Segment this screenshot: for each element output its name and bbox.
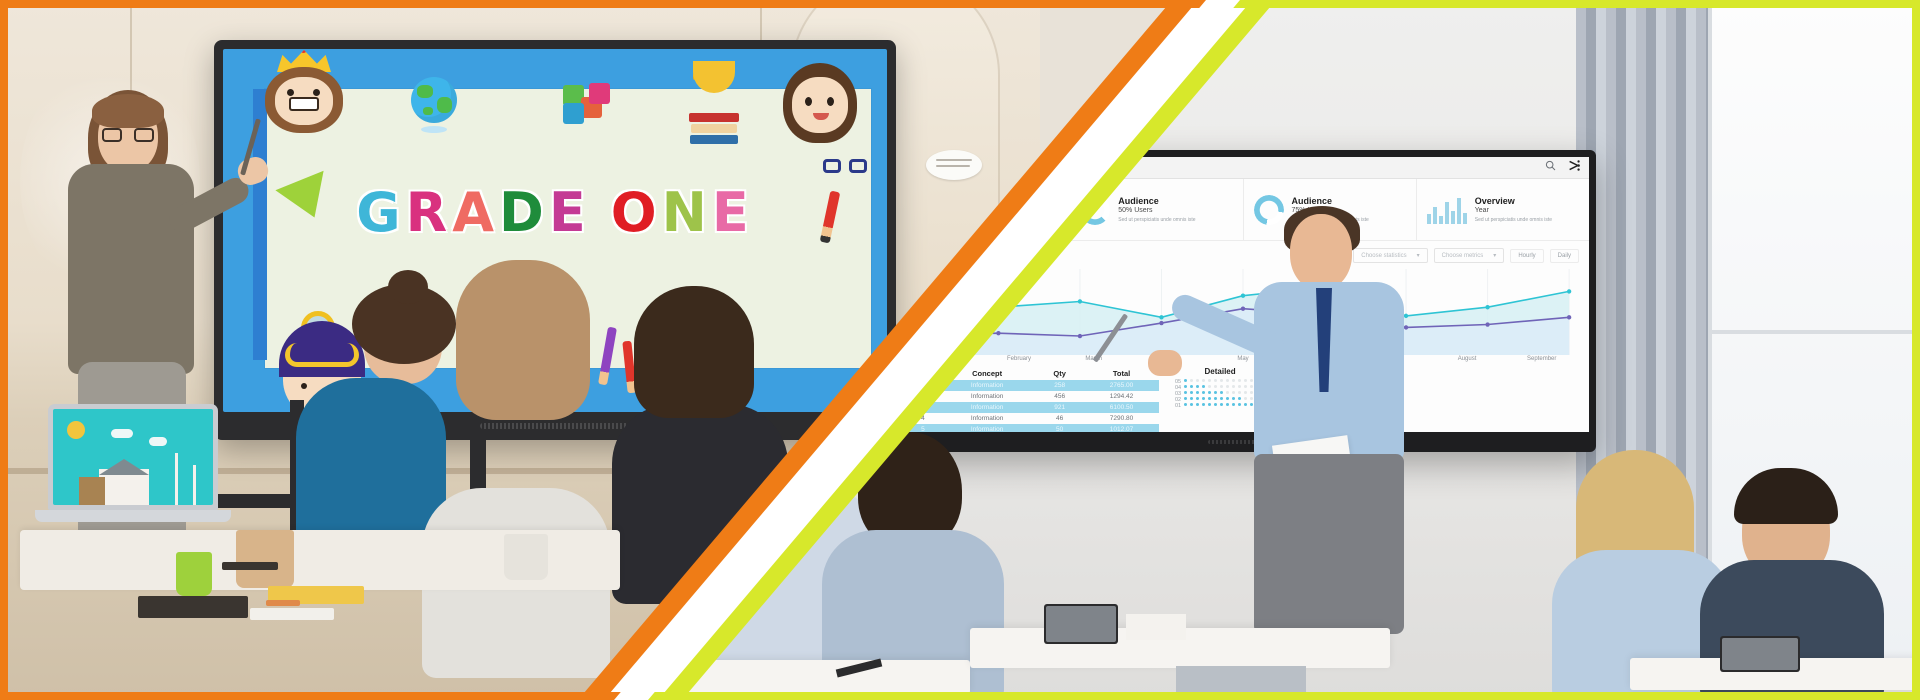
cloud-illustration [149, 437, 167, 446]
table-column-header: Concept [939, 367, 1035, 380]
table-cell: 7290.80 [1084, 413, 1159, 424]
chair-back [1176, 666, 1306, 694]
share-icon[interactable] [1568, 159, 1581, 174]
kpi-subtitle: Year [1475, 207, 1552, 214]
dot [1190, 391, 1193, 394]
table-cell: Information [939, 402, 1035, 413]
dot [1202, 397, 1205, 400]
title-letter: E [549, 181, 591, 244]
laptop-screen[interactable] [53, 409, 213, 505]
girl-face-sticker [783, 63, 857, 143]
dot [1190, 379, 1193, 382]
table-cell: 1 [907, 380, 939, 391]
dot [1214, 379, 1217, 382]
table-cell: 3 [907, 402, 939, 413]
dot [1184, 397, 1187, 400]
title-letter: G [356, 181, 405, 244]
kpi-card-overview-year[interactable]: Overview Year Sed ut perspiciatis unde o… [1417, 179, 1589, 240]
split-banner-image: GRADEONE [0, 0, 1920, 700]
globe-sticker [411, 77, 465, 133]
table-cell: 456 [1035, 391, 1084, 402]
dot-chart-y-label: 01 [1175, 403, 1181, 409]
table-cell: 2 [907, 391, 939, 402]
dot [1208, 397, 1211, 400]
glasses-sticker [823, 159, 867, 175]
presenter-figure [1244, 214, 1440, 634]
table-cell: 50 [1035, 424, 1084, 432]
dot [1196, 385, 1199, 388]
chevron-down-icon: ▾ [1493, 252, 1496, 259]
dot [1226, 385, 1229, 388]
table-column-header: N [907, 367, 939, 380]
dot [1238, 379, 1241, 382]
girl-with-crown-sticker [265, 67, 343, 133]
dot [1202, 391, 1205, 394]
table-cell: Information [939, 391, 1035, 402]
kpi-title: Audience [1118, 196, 1195, 206]
button-daily[interactable]: Daily [1550, 249, 1579, 263]
dot [1196, 391, 1199, 394]
puzzle-pieces-sticker [563, 85, 621, 125]
green-mug [176, 552, 212, 596]
table-cell: 258 [1035, 380, 1084, 391]
dot [1214, 391, 1217, 394]
kpi-title: Overview [1475, 196, 1552, 206]
coffee-cup [504, 534, 548, 580]
title-letter: D [499, 181, 549, 244]
table-row[interactable]: 2Information4561294.42 [907, 391, 1159, 402]
dot [1232, 397, 1235, 400]
kpi-title: Audience [1292, 196, 1369, 206]
search-icon[interactable] [1545, 160, 1556, 173]
month-label: January [907, 356, 982, 362]
dot [1202, 379, 1205, 382]
dot [1208, 379, 1211, 382]
dot [1220, 403, 1223, 406]
dot [1184, 403, 1187, 406]
table-cell: 5 [907, 424, 939, 432]
table-row[interactable]: 1Information2582765.00 [907, 380, 1159, 391]
dot [1208, 385, 1211, 388]
table-cell: Information [939, 413, 1035, 424]
dot [1214, 385, 1217, 388]
dot [1238, 385, 1241, 388]
donut-chart-50 [1080, 195, 1110, 225]
dot [1220, 379, 1223, 382]
title-letter: A [452, 181, 499, 244]
table-cell: Information [939, 424, 1035, 432]
dot [1232, 403, 1235, 406]
dot [1226, 379, 1229, 382]
month-label: February [982, 356, 1057, 362]
laptop-lid [48, 404, 218, 510]
roof-illustration [99, 459, 149, 475]
table-body: 1Information2582765.002Information456129… [907, 380, 1159, 432]
dot [1190, 403, 1193, 406]
panel-indicator-leds [845, 426, 872, 431]
house-illustration [79, 477, 105, 505]
dot [1208, 391, 1211, 394]
sun-illustration [67, 421, 85, 439]
laptop-device[interactable] [48, 404, 218, 522]
title-letter: E [712, 181, 754, 244]
table-cell: 46 [1035, 413, 1084, 424]
dot [1184, 379, 1187, 382]
tablet-device[interactable] [1044, 604, 1118, 644]
dot [1238, 403, 1241, 406]
wind-turbine-illustration [175, 453, 178, 505]
dot [1232, 379, 1235, 382]
wind-turbine-illustration [193, 465, 196, 505]
dot-chart-y-labels: 0504030201 [1175, 379, 1181, 409]
dot [1238, 391, 1241, 394]
dot [1196, 397, 1199, 400]
dot [1226, 391, 1229, 394]
wall-notice-sticker [926, 150, 982, 180]
dot [1190, 385, 1193, 388]
kpi-caption: Sed ut perspiciatis unde omnis iste [1475, 217, 1552, 224]
month-label: August [1430, 356, 1505, 362]
select-label: Choose metrics [1442, 253, 1484, 259]
kpi-subtitle: 50% Users [1118, 207, 1195, 214]
dot [1220, 391, 1223, 394]
papers [250, 608, 334, 620]
notebook [138, 596, 248, 618]
dot [1238, 397, 1241, 400]
dot [1190, 397, 1193, 400]
dashboard-bottom-row: NConceptQtyTotal 1Information2582765.002… [897, 362, 1589, 432]
kpi-caption: Sed ut perspiciatis unde omnis iste [1118, 217, 1195, 224]
papers [1126, 614, 1186, 640]
data-table: NConceptQtyTotal 1Information2582765.002… [907, 367, 1159, 432]
dot [1196, 403, 1199, 406]
title-letter: R [406, 181, 453, 244]
table-row[interactable]: 4Information467290.80 [907, 413, 1159, 424]
title-letter: O [611, 181, 662, 244]
button-hourly[interactable]: Hourly [1510, 249, 1543, 263]
dot [1226, 397, 1229, 400]
coffee-mug [236, 530, 294, 588]
eyeglasses [102, 128, 154, 142]
dot [1220, 385, 1223, 388]
dot [1232, 385, 1235, 388]
dot [1184, 385, 1187, 388]
tablet-device[interactable] [1720, 636, 1800, 672]
dot [1196, 379, 1199, 382]
table-row[interactable]: 5Information501012.07 [907, 424, 1159, 432]
select-choose-metrics[interactable]: Choose metrics ▾ [1434, 248, 1505, 263]
trophy-sticker [693, 61, 723, 80]
table-cell: 6100.50 [1084, 402, 1159, 413]
table-row[interactable]: 3Information9216100.50 [907, 402, 1159, 413]
table-cell: 921 [1035, 402, 1084, 413]
display-speaker-grille [890, 432, 1596, 452]
title-letter: N [662, 181, 712, 244]
kpi-card-audience-50[interactable]: Audience 50% Users Sed ut perspiciatis u… [1070, 179, 1243, 240]
dot [1202, 403, 1205, 406]
table-header-row: NConceptQtyTotal [907, 367, 1159, 380]
table-cell: 2765.00 [1084, 380, 1159, 391]
laptop-base [35, 510, 231, 522]
dot [1184, 391, 1187, 394]
cloud-illustration [111, 429, 133, 438]
dot [1214, 403, 1217, 406]
dot [1232, 391, 1235, 394]
dot [1208, 403, 1211, 406]
dot [1226, 403, 1229, 406]
student-grey-sweater [436, 278, 610, 700]
conference-table-left [640, 660, 970, 694]
table-column-header: Qty [1035, 367, 1084, 380]
table-cell: 4 [907, 413, 939, 424]
chart-month-labels: JanuaryFebruaryMarchAprilMayJuneJulyAugu… [907, 356, 1579, 362]
dot [1220, 397, 1223, 400]
books-sticker [689, 111, 739, 144]
table-cell: 1012.07 [1084, 424, 1159, 432]
dot [1214, 397, 1217, 400]
pen [266, 600, 300, 606]
dot [1202, 385, 1205, 388]
comparison-graph-header: Comparison graph Database and analysis C… [897, 241, 1589, 267]
table-column-header: Total [1084, 367, 1159, 380]
table-cell: 1294.42 [1084, 391, 1159, 402]
table-cell: Information [939, 380, 1035, 391]
month-label: September [1504, 356, 1579, 362]
smartphone [222, 562, 278, 570]
